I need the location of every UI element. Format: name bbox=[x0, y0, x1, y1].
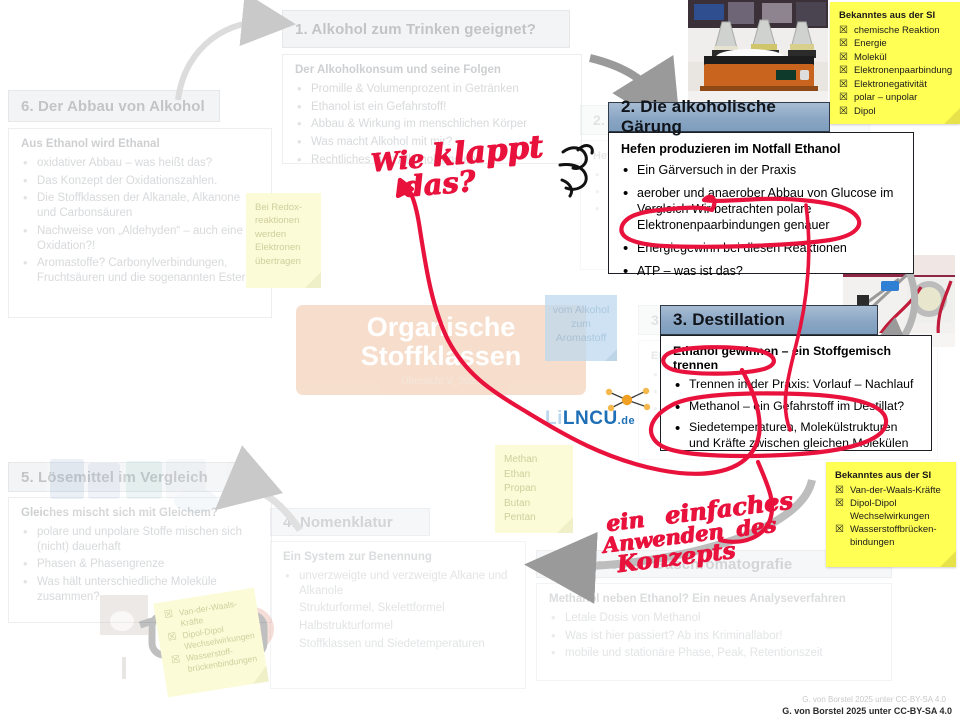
hw-word: das? bbox=[402, 168, 477, 202]
list-item: mobile und stationäre Phase, Peak, Reten… bbox=[549, 646, 879, 661]
note-title: Bekanntes aus der SI bbox=[835, 470, 948, 483]
checkbox-x-icon: ☒ bbox=[839, 25, 848, 36]
note-bekanntes-aus-der-si-bottom: Bekanntes aus der SI ☒ Van-der-Waals-Krä… bbox=[826, 462, 956, 567]
card-2-title: 2. Die alkoholische Gärung bbox=[608, 102, 830, 132]
note-item: Van-der-Waals-Kräfte bbox=[850, 485, 941, 498]
note-fold-icon bbox=[305, 272, 321, 288]
center-subtitle: Übersicht V_2025 bbox=[296, 376, 586, 387]
note-row: ☒ Dipol-Dipol Wechselwirkungen bbox=[835, 498, 948, 523]
list-item-highlighted: aerober und anaerober Abbau von Glucose … bbox=[621, 185, 901, 233]
list-item: unverzweigte und verzweigte Alkane und A… bbox=[283, 569, 513, 598]
note-fold-icon bbox=[940, 551, 956, 567]
note-item: Wasserstoffbrücken-bindungen bbox=[850, 524, 948, 549]
note-fold-icon bbox=[605, 349, 617, 361]
card-6-abbau-von-alkohol[interactable]: 6. Der Abbau von Alkohol Aus Ethanol wir… bbox=[8, 90, 272, 318]
card-6-title: 6. Der Abbau von Alkohol bbox=[8, 90, 220, 122]
note-row: ☒ Elektronegativität bbox=[839, 79, 952, 92]
list-item: Aromastoffe? Carbonylverbindungen, Fruch… bbox=[21, 256, 259, 285]
logo-lncu: LNCU bbox=[563, 408, 618, 429]
card-4-body: Ein System zur Benennung unverzweigte un… bbox=[270, 541, 526, 689]
card-1-subtitle: Der Alkoholkonsum und seine Folgen bbox=[295, 64, 569, 76]
list-item: Ein Gärversuch in der Praxis bbox=[621, 162, 901, 178]
note-row: ☒ Energie bbox=[839, 38, 952, 51]
card-4-title: 4. Nomenklatur bbox=[270, 508, 430, 536]
photo-beakers-faded bbox=[46, 455, 226, 515]
footer-credit: G. von Borstel 2025 unter CC-BY-SA 4.0 bbox=[782, 706, 952, 716]
note-item: Elektronegativität bbox=[854, 79, 927, 92]
card-3-body: Ethanol gewinnen – ein Stoffgemisch tren… bbox=[660, 335, 932, 451]
note-fold-icon bbox=[557, 517, 573, 533]
list-item: polare und unpolare Stoffe mischen sich … bbox=[21, 525, 259, 554]
center-title: Organische Stoffklassen bbox=[296, 313, 586, 370]
checkbox-x-icon: ☒ bbox=[839, 52, 848, 63]
list-item: Promille & Volumenprozent in Getränken bbox=[295, 82, 569, 97]
logo-li: Li bbox=[545, 408, 563, 429]
card-6-bullets: oxidativer Abbau – was heißt das? Das Ko… bbox=[21, 156, 259, 286]
list-item: oxidativer Abbau – was heißt das? bbox=[21, 156, 259, 171]
note-row: ☒ Van-der-Waals-Kräfte bbox=[835, 485, 948, 498]
blue-sticky-note: vom Alkohol zum Aromastoff bbox=[545, 295, 617, 361]
list-item: Stoffklassen und Siedetemperaturen bbox=[283, 637, 513, 652]
note-line: Bei Redox- bbox=[255, 201, 313, 214]
list-item: ATP – was ist das? bbox=[621, 263, 901, 279]
checkbox-x-icon: ☒ bbox=[171, 654, 182, 666]
card-2-subtitle: Hefen produzieren im Notfall Ethanol bbox=[621, 142, 901, 156]
card-3-bullets: Trennen in der Praxis: Vorlauf – Nachlau… bbox=[673, 377, 919, 452]
checkbox-x-icon: ☒ bbox=[839, 38, 848, 49]
card-4-bullets: unverzweigte und verzweigte Alkane und A… bbox=[283, 569, 513, 652]
note-line: werden bbox=[255, 228, 313, 241]
note-item: Elektronenpaarbindung bbox=[854, 65, 952, 78]
note-line: Butan bbox=[504, 497, 565, 512]
card-4-nomenklatur[interactable]: 4. Nomenklatur Ein System zur Benennung … bbox=[270, 508, 526, 689]
card-7-gaschromatografie[interactable]: Bei Interesse: Gaschromatografie Methano… bbox=[536, 550, 892, 681]
note-item: Energie bbox=[854, 38, 887, 51]
note-row: ☒ Elektronenpaarbindung bbox=[839, 65, 952, 78]
list-item: Energiegewinn bei diesen Reaktionen bbox=[621, 240, 901, 256]
note-redoxreaktionen: Bei Redox- reaktionen werden Elektronen … bbox=[246, 193, 321, 288]
checkbox-x-icon: ☒ bbox=[167, 631, 178, 643]
note-fold-icon bbox=[250, 666, 268, 684]
note-item: Dipol-Dipol Wechselwirkungen bbox=[850, 498, 948, 523]
card-3-destillation[interactable]: 3. Destillation Ethanol gewinnen – ein S… bbox=[660, 305, 932, 451]
note-item: Molekül bbox=[854, 52, 887, 65]
checkbox-x-icon: ☒ bbox=[835, 498, 844, 509]
card-3-title: 3. Destillation bbox=[660, 305, 878, 335]
slide-canvas: 6. Der Abbau von Alkohol Aus Ethanol wir… bbox=[0, 0, 960, 720]
card-2-body: Hefen produzieren im Notfall Ethanol Ein… bbox=[608, 132, 914, 274]
note-item: chemische Reaktion bbox=[854, 25, 940, 38]
list-item-highlighted: Siedetemperaturen, Molekülstrukturen und… bbox=[673, 420, 919, 451]
list-item: Ethanol ist ein Gefahrstoff! bbox=[295, 100, 569, 115]
logo-text: LiLNCU.de bbox=[545, 408, 635, 430]
note-alkane-liste: Methan Ethan Propan Butan Pentan bbox=[495, 445, 573, 533]
note-row: ☒ Molekül bbox=[839, 52, 952, 65]
note-line: Propan bbox=[504, 482, 565, 497]
arrow-6-to-1 bbox=[178, 22, 272, 100]
note-line: Ethan bbox=[504, 468, 565, 483]
note-line: übertragen bbox=[255, 255, 313, 268]
checkbox-x-icon: ☒ bbox=[839, 65, 848, 76]
lncu-logo[interactable]: LiLNCU.de bbox=[545, 400, 655, 432]
card-2-alkoholische-gaerung[interactable]: 2. Die alkoholische Gärung Hefen produzi… bbox=[608, 102, 914, 274]
logo-de: .de bbox=[618, 415, 635, 427]
card-1-title: 1. Alkohol zum Trinken geeignet? bbox=[282, 10, 570, 48]
card-7-body: Methanol neben Ethanol? Ein neues Analys… bbox=[536, 583, 892, 681]
card-3-subtitle: Ethanol gewinnen – ein Stoffgemisch tren… bbox=[673, 344, 919, 372]
list-item: Trennen in der Praxis: Vorlauf – Nachlau… bbox=[673, 377, 919, 393]
footer-credit-ghost: G. von Borstel 2025 unter CC-BY-SA 4.0 bbox=[802, 695, 946, 704]
note-row: ☒ chemische Reaktion bbox=[839, 25, 952, 38]
card-6-body: Aus Ethanol wird Ethanal oxidativer Abba… bbox=[8, 128, 272, 318]
list-item: Die Stoffklassen der Alkanale, Alkanone … bbox=[21, 191, 259, 220]
list-item: Halbstrukturformel bbox=[283, 619, 513, 634]
note-row: ☒ Wasserstoffbrücken-bindungen bbox=[835, 524, 948, 549]
note-line: Pentan bbox=[504, 511, 565, 526]
list-item: Nachweise von „Aldehyden“ – auch eine Ox… bbox=[21, 224, 259, 253]
note-line: Elektronen bbox=[255, 241, 313, 254]
note-line: reaktionen bbox=[255, 214, 313, 227]
hw-word: des bbox=[735, 511, 778, 541]
note-line: Methan bbox=[504, 453, 565, 468]
center-title-block: Organische Stoffklassen Übersicht V_2025 bbox=[296, 305, 586, 395]
checkbox-x-icon: ☒ bbox=[839, 79, 848, 90]
checkbox-x-icon: ☒ bbox=[835, 485, 844, 496]
card-4-subtitle: Ein System zur Benennung bbox=[283, 551, 513, 563]
list-item: Was ist hier passiert? Ab ins Kriminalla… bbox=[549, 629, 879, 644]
note-fold-icon bbox=[944, 108, 960, 124]
note-si-faded: ☒ Van-der-Waals-Kräfte ☒ Dipol-Dipol Wec… bbox=[153, 588, 269, 698]
card-2-bullets: Ein Gärversuch in der Praxis aerober und… bbox=[621, 162, 901, 279]
card-6-subtitle: Aus Ethanol wird Ethanal bbox=[21, 138, 259, 150]
list-item: Phasen & Phasengrenze bbox=[21, 557, 259, 572]
note-title: Bekanntes aus der SI bbox=[839, 10, 952, 23]
list-item: Strukturformel, Skelettformel bbox=[283, 601, 513, 616]
card-7-bullets: Letale Dosis von Methanol Was ist hier p… bbox=[549, 611, 879, 661]
photo-gaerversuch bbox=[688, 0, 828, 105]
list-item: Das Konzept der Oxidationszahlen. bbox=[21, 174, 259, 189]
list-item: Letale Dosis von Methanol bbox=[549, 611, 879, 626]
card-7-subtitle: Methanol neben Ethanol? Ein neues Analys… bbox=[549, 593, 879, 605]
list-item: Methanol – ein Gefahrstoff im Destillat? bbox=[673, 399, 919, 415]
checkbox-x-icon: ☒ bbox=[163, 609, 174, 621]
